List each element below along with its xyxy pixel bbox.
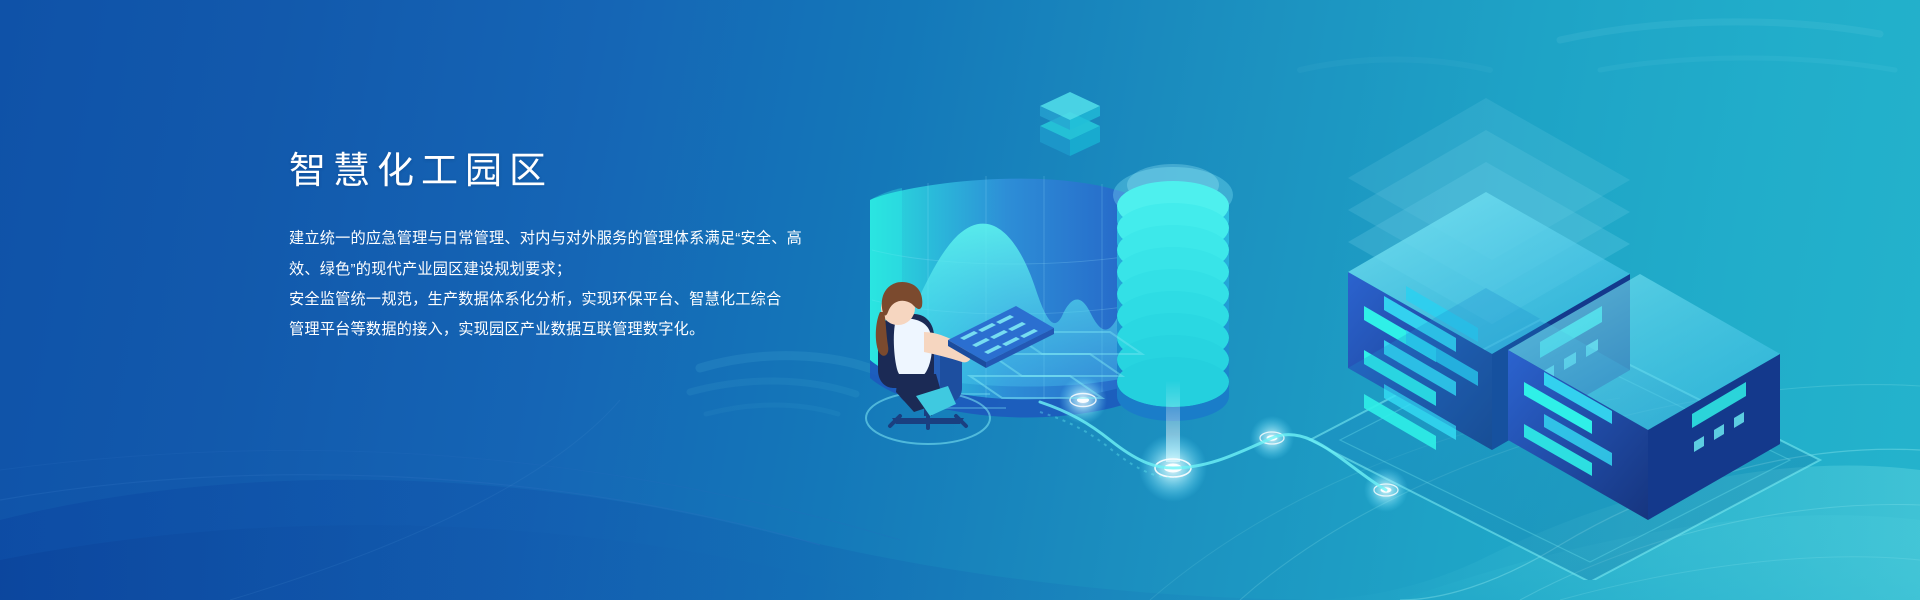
glow-node <box>1059 376 1107 424</box>
description-line: 管理平台等数据的接入，实现园区产业数据互联管理数字化。 <box>289 315 909 345</box>
hero-banner: 智慧化工园区 建立统一的应急管理与日常管理、对内与对外服务的管理体系满足“安全、… <box>0 0 1920 600</box>
hero-description: 建立统一的应急管理与日常管理、对内与对外服务的管理体系满足“安全、高 效、绿色”… <box>289 224 909 346</box>
hero-illustration <box>840 20 1920 580</box>
description-line: 建立统一的应急管理与日常管理、对内与对外服务的管理体系满足“安全、高 <box>289 224 909 254</box>
hero-copy: 智慧化工园区 建立统一的应急管理与日常管理、对内与对外服务的管理体系满足“安全、… <box>289 148 909 346</box>
description-line: 效、绿色”的现代产业园区建设规划要求； <box>289 255 909 285</box>
floating-layers-cube-icon <box>1040 92 1100 156</box>
description-line: 安全监管统一规范，生产数据体系化分析，实现环保平台、智慧化工综合 <box>289 285 909 315</box>
page-title: 智慧化工园区 <box>289 148 909 194</box>
